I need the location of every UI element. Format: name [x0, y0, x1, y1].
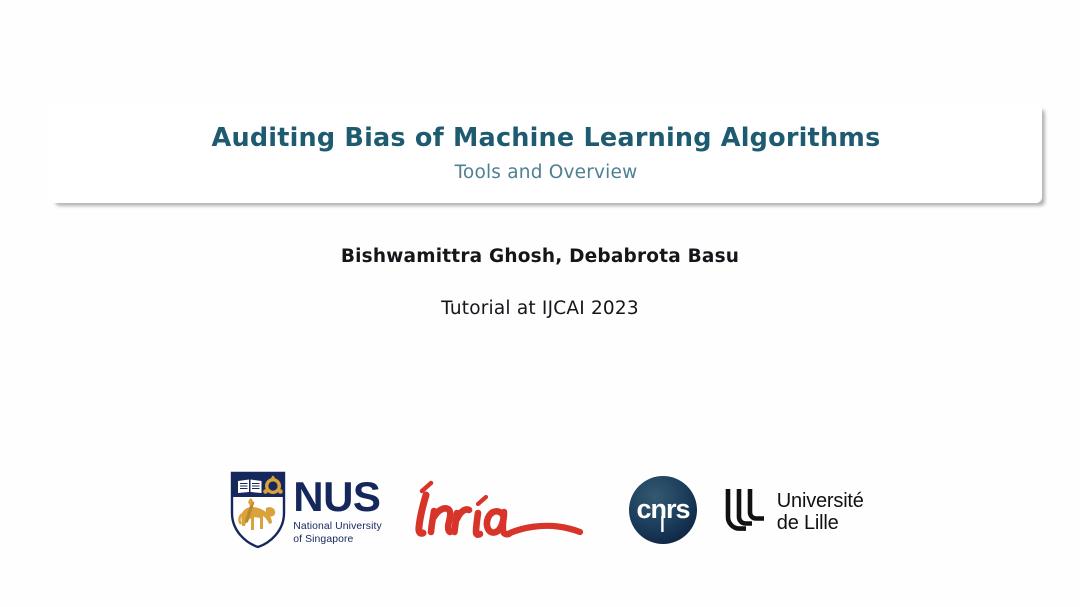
lille-line2: de Lille — [777, 512, 839, 534]
nus-subtitle-line2: of Singapore — [293, 534, 353, 545]
page-title: Auditing Bias of Machine Learning Algori… — [212, 124, 881, 153]
inria-logo — [400, 475, 586, 551]
authors-line: Bishwamittra Ghosh, Debabrota Basu — [0, 246, 1080, 267]
cnrs-circle-icon: cnrs — [628, 475, 698, 549]
nus-logo: NUS National University of Singapore — [230, 471, 382, 553]
logo-row: NUS National University of Singapore — [0, 462, 1080, 562]
nus-subtitle-line1: National University — [293, 521, 382, 532]
cnrs-logo: cnrs — [628, 475, 698, 549]
lille-line1: Université — [777, 490, 864, 512]
nus-acronym: NUS — [293, 478, 382, 517]
title-slide: Auditing Bias of Machine Learning Algori… — [0, 0, 1080, 607]
inria-script-icon — [400, 475, 586, 551]
nus-crest-icon — [230, 471, 286, 553]
event-line: Tutorial at IJCAI 2023 — [0, 298, 1080, 319]
universite-de-lille-logo: Université de Lille — [724, 487, 864, 537]
ul-monogram-icon — [724, 487, 768, 537]
page-subtitle: Tools and Overview — [455, 162, 638, 183]
title-block: Auditing Bias of Machine Learning Algori… — [50, 104, 1042, 203]
